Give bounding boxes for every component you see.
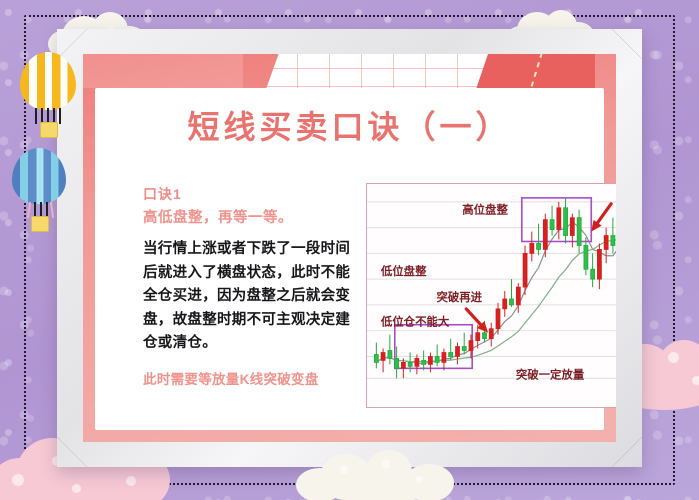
cloud-bottom-center-icon bbox=[296, 450, 456, 500]
formula-footer: 此时需要等放量K线突破变盘 bbox=[143, 368, 358, 388]
annotation-breakout-volume: 突破一定放量 bbox=[516, 367, 585, 381]
formula-body: 当行情上涨或者下跌了一段时间后就进入了横盘状态，此时不能全仓买进，因为盘整之后就… bbox=[143, 238, 358, 355]
mat-decoration bbox=[83, 54, 616, 88]
content-card: 短线买卖口诀（一） 口诀1 高低盘整，再等一等。 当行情上涨或者下跌了一段时间后… bbox=[95, 88, 604, 430]
poster-canvas: 短线买卖口诀（一） 口诀1 高低盘整，再等一等。 当行情上涨或者下跌了一段时间后… bbox=[0, 0, 699, 500]
balloon-yellow-icon bbox=[20, 52, 76, 138]
annotation-low-position-small: 低位仓不能大 bbox=[380, 315, 450, 329]
annotation-low-consolidation: 低位盘整 bbox=[380, 264, 427, 278]
formula-subheading: 高低盘整，再等一等。 bbox=[143, 208, 358, 228]
candle-series bbox=[374, 198, 616, 378]
frame-mat: 短线买卖口诀（一） 口诀1 高低盘整，再等一等。 当行情上涨或者下跌了一段时间后… bbox=[83, 54, 616, 442]
left-text-column: 口诀1 高低盘整，再等一等。 当行情上涨或者下跌了一段时间后就进入了横盘状态，此… bbox=[143, 184, 358, 388]
formula-heading: 口诀1 bbox=[143, 184, 358, 204]
photo-frame: 短线买卖口诀（一） 口诀1 高低盘整，再等一等。 当行情上涨或者下跌了一段时间后… bbox=[57, 29, 642, 467]
annotation-high-consolidation: 高位盘整 bbox=[462, 203, 508, 217]
chart-svg: 高位盘整低位盘整突破再进低位仓不能大突破一定放量 bbox=[367, 184, 616, 407]
page-title: 短线买卖口诀（一） bbox=[95, 102, 604, 148]
grid-pattern bbox=[265, 54, 515, 88]
consolidation-boxes bbox=[395, 198, 591, 368]
annotation-breakout-reenter: 突破再进 bbox=[436, 290, 482, 304]
candlestick-chart: 高位盘整低位盘整突破再进低位仓不能大突破一定放量 bbox=[366, 183, 616, 408]
balloon-blue-icon bbox=[12, 148, 66, 232]
